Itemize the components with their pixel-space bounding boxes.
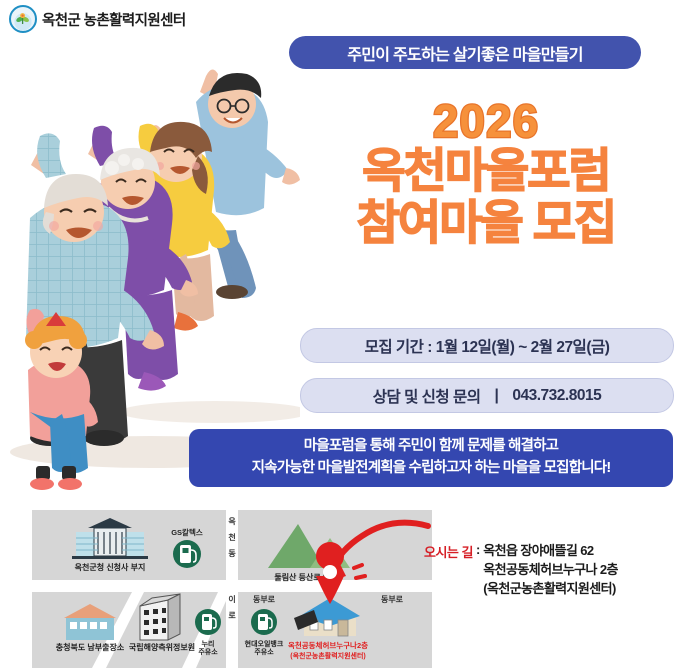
map-place-label: 현대오일뱅크 [245,639,284,648]
program-description-box: 마을포럼을 통해 주민이 함께 문제를 해결하고 지속가능한 마을발전계획을 수… [189,429,673,487]
svg-text:옥: 옥 [228,516,236,526]
recruitment-period-text: 모집 기간 : 1월 12일(월) ~ 2월 27일(금) [365,335,610,357]
map-place-label: 주유소 [198,647,218,656]
destination-label-line-2: (옥천군농촌활력지원센터) [290,651,366,660]
address-block: 오시는 길 : 옥천읍 장야애뜰길 62 옥천공동체허브누구나 2층 (옥천군농… [424,542,674,599]
map-place-label: 누리 [202,639,215,648]
map-road-label-left: 동부로 [253,595,276,604]
contact-pill: 상담 및 신청 문의 | 043.732.8015 [300,378,674,413]
map-place-label: 충청북도 남부출장소 [56,642,125,652]
poster-canvas: 옥천군 농촌활력지원센터 [0,0,680,672]
organization-logo-bar: 옥천군 농촌활력지원센터 [9,5,186,33]
headline-line-2: 참여마을 모집 [300,198,672,248]
svg-text:천: 천 [228,532,235,542]
map-place-label: 국립해양측위정보원 [129,642,195,652]
address-line-1: 옥천읍 장야애뜰길 62 [483,542,618,561]
map-place-label: 옥천군청 신청사 부지 [75,562,146,572]
address-line-2: 옥천공동체허브누구나 2층 [483,561,618,580]
map-place-label: 주유소 [254,647,274,656]
address-colon: : [476,542,480,557]
map-road-label-right: 동부로 [381,595,404,604]
contact-phone-number[interactable]: 043.732.8015 [512,387,601,405]
location-map[interactable]: 옥천군청 신청사 부지 GS칼텍스 옥 천 동 이 로 [32,510,432,668]
description-line-2: 지속가능한 마을발전계획을 수립하고자 하는 마을을 모집합니다! [252,458,611,480]
svg-text:이: 이 [228,594,235,604]
organization-name: 옥천군 농촌활력지원센터 [42,9,186,30]
slogan-text: 주민이 주도하는 살기좋은 마을만들기 [347,41,583,65]
headline-year: 2026 [300,100,672,144]
description-line-1: 마을포럼을 통해 주민이 함께 문제를 해결하고 [304,436,558,458]
contact-separator: | [495,387,499,405]
svg-text:동: 동 [228,549,236,558]
map-place-label: GS칼텍스 [171,527,203,537]
svg-text:로: 로 [228,611,236,620]
page-title: 2026 옥천마을포럼 참여마을 모집 [300,100,672,247]
slogan-ribbon: 주민이 주도하는 살기좋은 마을만들기 [289,36,641,69]
recruitment-period-pill: 모집 기간 : 1월 12일(월) ~ 2월 27일(금) [300,328,674,363]
contact-label: 상담 및 신청 문의 [373,385,481,407]
okcheon-leaf-logo-icon [9,5,37,33]
destination-label-line-1: 옥천공동체허브누구나2층 [288,640,368,650]
address-line-3: (옥천군농촌활력지원센터) [483,580,618,599]
address-label: 오시는 길 [424,542,473,561]
headline-line-1: 옥천마을포럼 [300,146,672,196]
